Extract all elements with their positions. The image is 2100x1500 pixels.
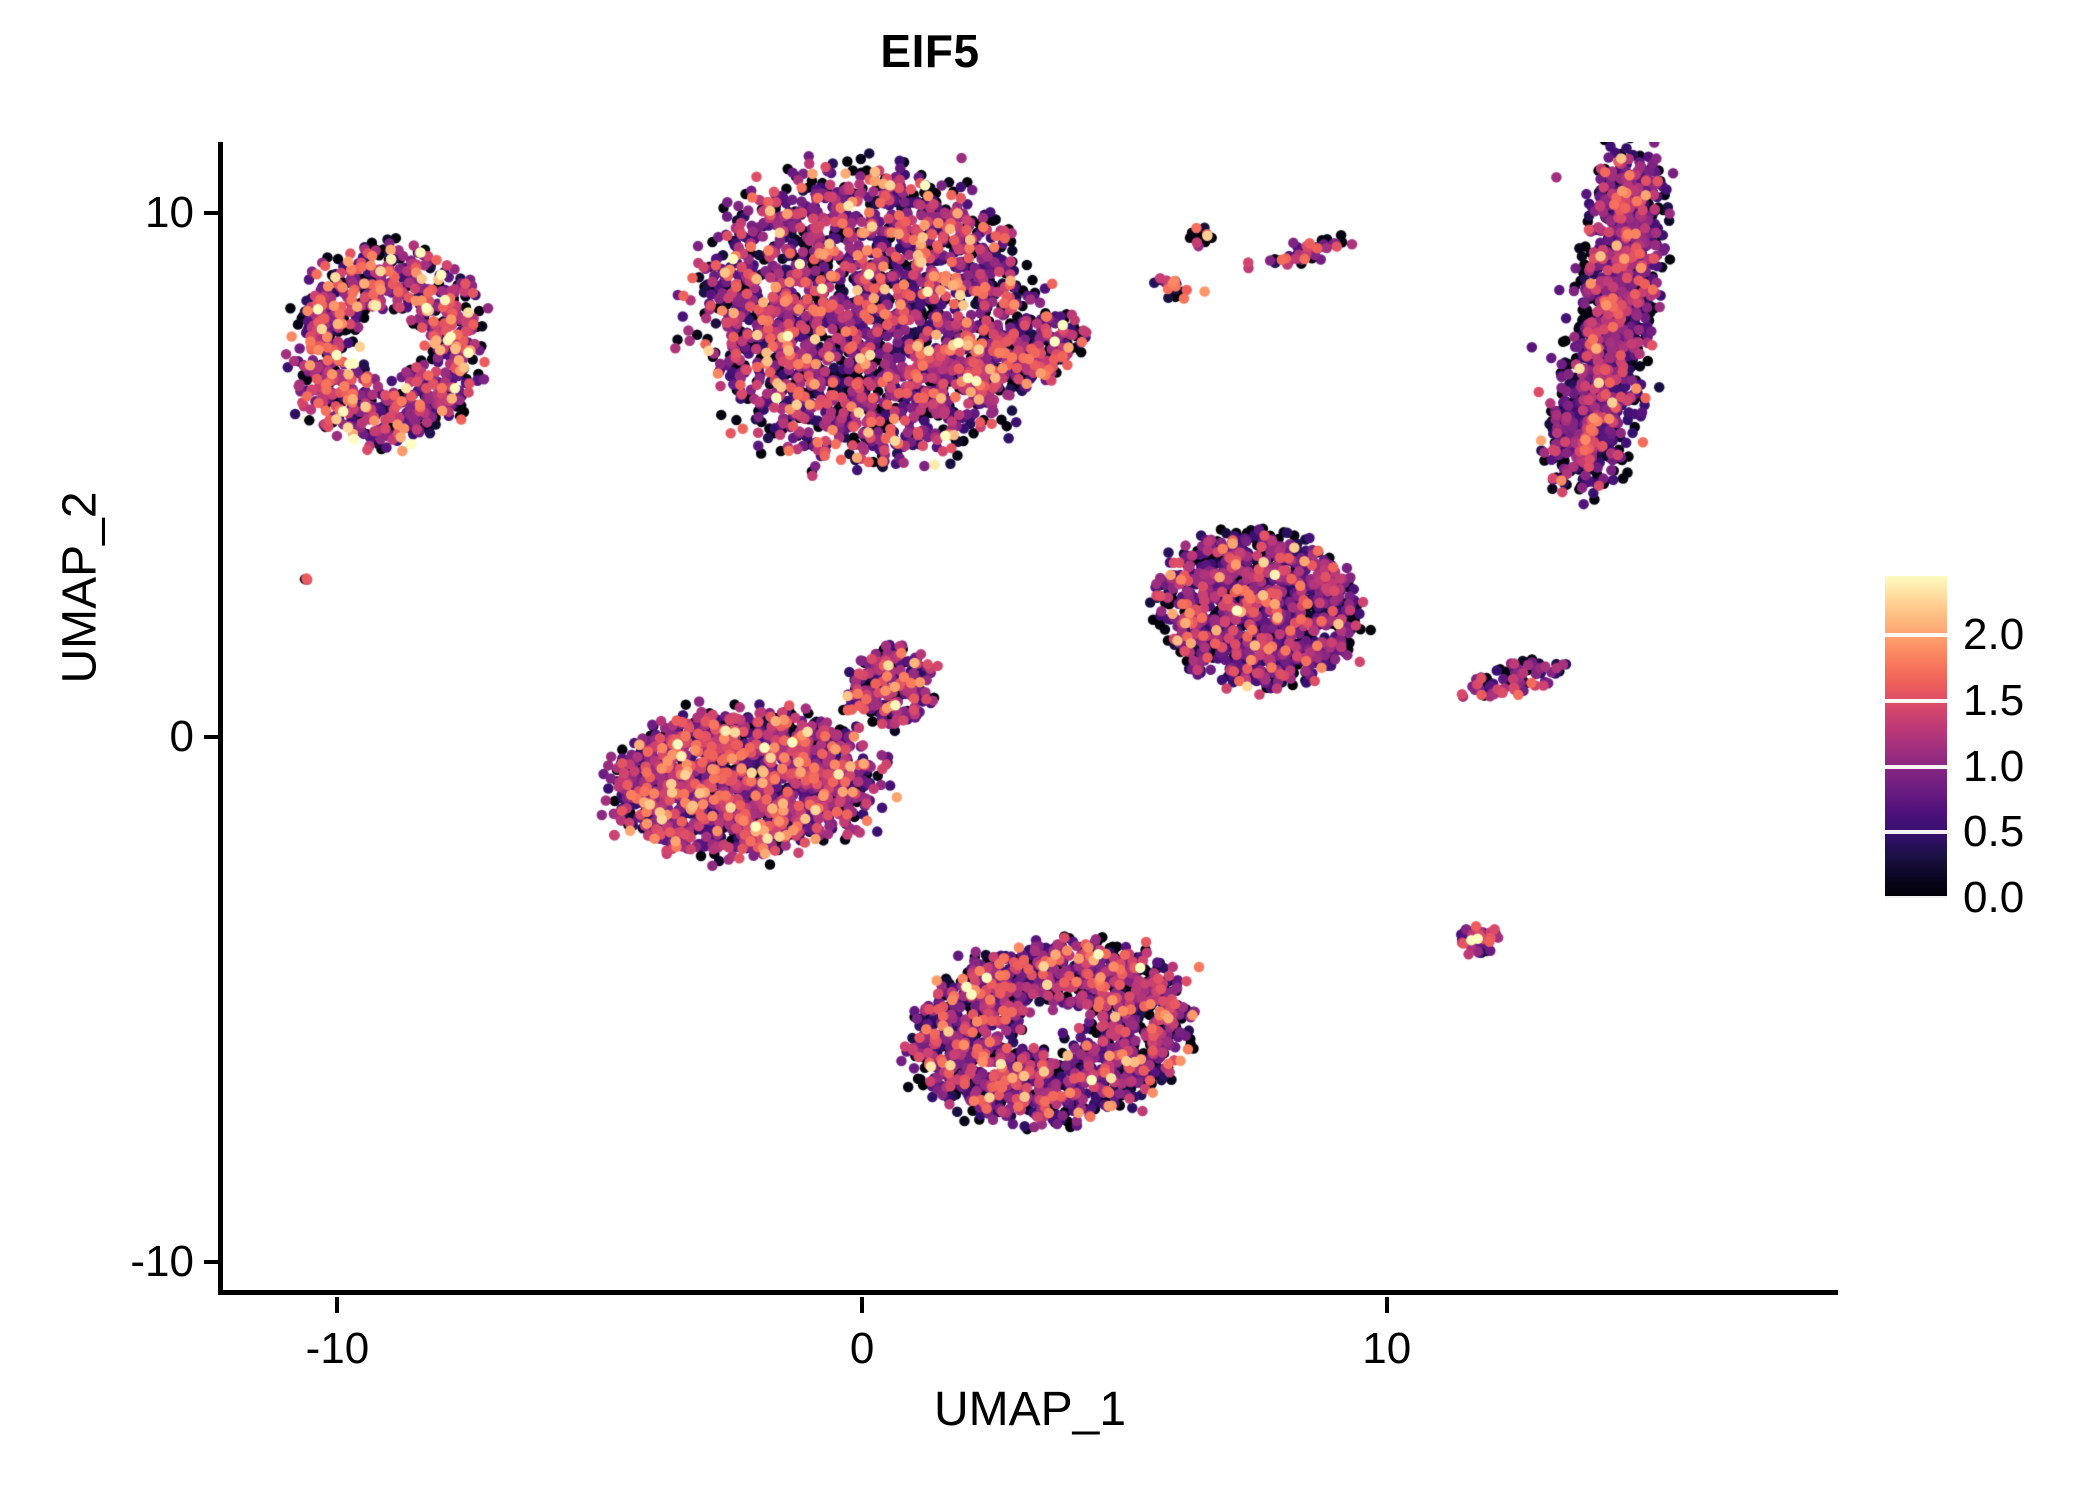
y-axis-tick [204, 1260, 220, 1264]
colorbar-tick [1885, 765, 1947, 769]
y-axis-tick-label: 10 [0, 191, 194, 235]
colorbar-tick [1885, 896, 1947, 900]
x-axis-tick-label: 0 [752, 1327, 972, 1371]
y-axis-tick-label: 0 [0, 715, 194, 759]
color-legend: 0.00.51.01.52.0 [1885, 576, 2085, 906]
x-axis-tick-label: 10 [1277, 1327, 1497, 1371]
colorbar-tick [1885, 699, 1947, 703]
colorbar-gradient [1885, 576, 1947, 898]
y-axis-tick [204, 211, 220, 215]
x-axis-tick [860, 1297, 864, 1313]
y-axis-tick-label: -10 [0, 1240, 194, 1284]
colorbar-tick-label: 1.5 [1963, 679, 2024, 723]
colorbar-tick-label: 2.0 [1963, 613, 2024, 657]
colorbar-tick [1885, 830, 1947, 834]
colorbar-tick [1885, 633, 1947, 637]
page-title: EIF5 [0, 28, 1860, 74]
y-axis-tick [204, 735, 220, 739]
chart-page: EIF5 UMAP_2 UMAP_1 -10010-10010 0.00.51.… [0, 0, 2100, 1500]
x-axis-tick [335, 1297, 339, 1313]
scatter-plot-area [222, 142, 1838, 1293]
colorbar-tick-label: 0.5 [1963, 810, 2024, 854]
x-axis-label: UMAP_1 [222, 1382, 1838, 1437]
colorbar-tick-label: 1.0 [1963, 745, 2024, 789]
x-axis-tick [1385, 1297, 1389, 1313]
x-axis-tick-label: -10 [227, 1327, 447, 1371]
colorbar-tick-label: 0.0 [1963, 876, 2024, 920]
